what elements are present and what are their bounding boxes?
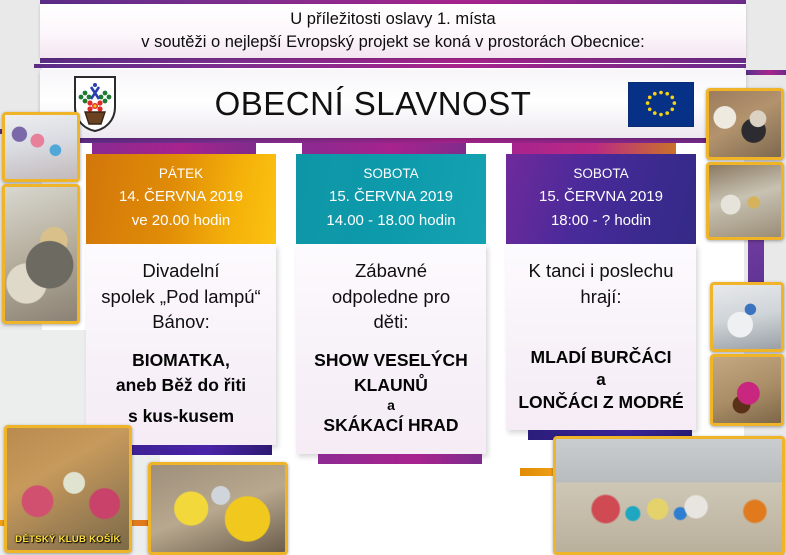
card-top-tab [302,143,466,154]
photo-image [5,187,77,321]
event-title-bar: OBECNÍ SLAVNOST [40,70,746,138]
performer-line-2: spolek „Pod lampú“ [92,284,270,310]
music-line-1: K tanci i poslechu [512,258,690,284]
photo-craft-table-group [706,162,784,240]
attraction-title-line-3: SKÁKACÍ HRAD [302,413,480,438]
photo-kids-crafting [2,112,80,182]
program-line-2: odpoledne pro [302,284,480,310]
card-date-label: 14. ČERVNA 2019 [92,185,270,209]
card-date-label: 15. ČERVNA 2019 [512,185,690,209]
band-name-2: LONČÁCI Z MODRÉ [512,390,690,415]
show-title-line-2: aneb Běž do řiti [92,373,270,398]
card-time-label: ve 20.00 hodin [92,209,270,233]
poster-canvas: U příležitosti oslavy 1. místa v soutěži… [0,0,786,555]
announcement-banner: U příležitosti oslavy 1. místa v soutěži… [40,4,746,58]
card-header-friday: PÁTEK 14. ČERVNA 2019 ve 20.00 hodin [86,154,276,244]
photo-image [709,91,781,157]
card-day-label: PÁTEK [92,163,270,185]
program-card-saturday-afternoon[interactable]: SOBOTA 15. ČERVNA 2019 14.00 - 18.00 hod… [296,143,486,464]
card-bottom-bar [108,445,272,455]
page-title: OBECNÍ SLAVNOST [118,85,628,123]
photo-image [556,439,782,552]
band-conjunction: a [512,370,690,390]
photo-girl-with-bowl [710,354,784,426]
card-body-friday: Divadelní spolek „Pod lampú“ Bánov: BIOM… [86,244,276,444]
card-top-tab [512,143,676,154]
right-stub-rail [746,70,786,75]
banner-bottom-rail [40,58,746,63]
performer-line-1: Divadelní [92,258,270,284]
attraction-title-line-2: KLAUNŮ [302,373,480,398]
card-time-label: 18:00 - ? hodin [512,209,690,233]
card-header-saturday-evening: SOBOTA 15. ČERVNA 2019 18:00 - ? hodin [506,154,696,244]
card-day-label: SOBOTA [302,163,480,185]
photo-hall-workshop [710,282,784,352]
card-date-label: 15. ČERVNA 2019 [302,185,480,209]
photo-woman-drawing [706,88,784,160]
band-name-1: MLADÍ BURČÁCI [512,345,690,370]
program-card-friday[interactable]: PÁTEK 14. ČERVNA 2019 ve 20.00 hodin Div… [86,143,276,455]
photo-outdoor-club: DĚTSKÝ KLUB KOŠÍK [4,425,132,553]
attraction-conjunction: a [302,397,480,413]
spacer [512,309,690,345]
music-line-2: hrají: [512,284,690,310]
card-top-tab [92,143,256,154]
photo-caption-label: DĚTSKÝ KLUB KOŠÍK [7,534,129,545]
photo-girls-with-pinwheels [553,436,785,555]
performer-line-3: Bánov: [92,309,270,335]
spacer [92,335,270,348]
photo-image [713,285,781,349]
program-line-1: Zábavné [302,258,480,284]
program-card-saturday-evening[interactable]: SOBOTA 15. ČERVNA 2019 18:00 - ? hodin K… [506,143,696,440]
photo-image [5,115,77,179]
photo-image [151,465,285,552]
announcement-line-2: v soutěži o nejlepší Evropský projekt se… [141,31,645,54]
card-time-label: 14.00 - 18.00 hodin [302,209,480,233]
announcement-line-1: U příležitosti oslavy 1. místa [290,8,495,31]
photo-image: DĚTSKÝ KLUB KOŠÍK [7,428,129,550]
spacer [302,335,480,348]
photo-image [713,357,781,423]
spacer [92,397,270,404]
program-line-3: děti: [302,309,480,335]
title-top-rail [34,64,746,68]
show-title-line-1: BIOMATKA, [92,348,270,373]
european-union-flag-icon [628,82,694,127]
photo-image [709,165,781,237]
card-day-label: SOBOTA [512,163,690,185]
card-body-saturday-evening: K tanci i poslechu hrají: MLADÍ BURČÁCI … [506,244,696,430]
attraction-title-line-1: SHOW VESELÝCH [302,348,480,373]
card-header-saturday-afternoon: SOBOTA 15. ČERVNA 2019 14.00 - 18.00 hod… [296,154,486,244]
photo-kids-yellow-raincoats [148,462,288,555]
card-bottom-bar [318,454,482,464]
card-body-saturday-afternoon: Zábavné odpoledne pro děti: SHOW VESELÝC… [296,244,486,453]
photo-boy-baking [2,184,80,324]
